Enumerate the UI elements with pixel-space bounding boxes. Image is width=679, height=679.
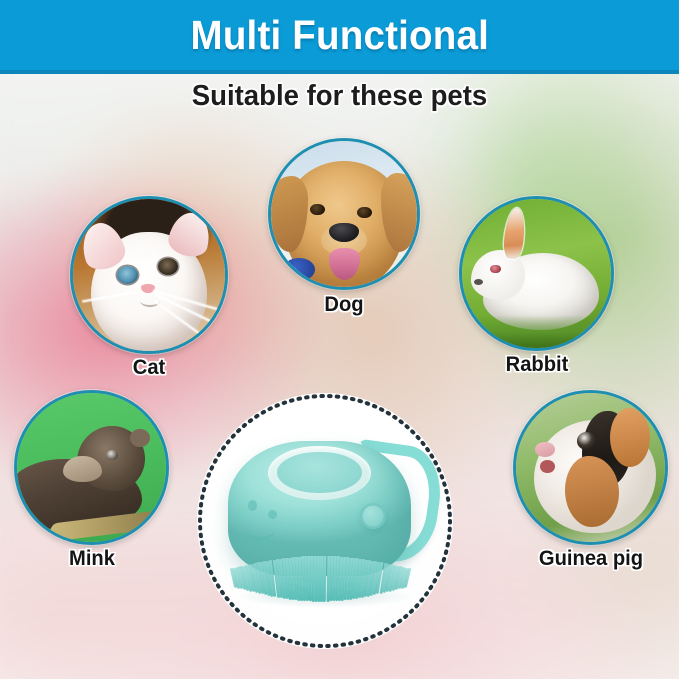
guinea-pig-orange-patch (610, 408, 650, 468)
brush-face-eye (268, 510, 277, 519)
pet-item-guinea-pig[interactable]: Guinea pig (513, 390, 668, 585)
mink-ear (130, 429, 149, 447)
brush-face-smile (244, 519, 275, 540)
cat-photo-scene (73, 199, 225, 351)
infographic-canvas: Multi Functional Suitable for these pets… (0, 0, 679, 679)
pet-photo-rabbit (459, 196, 614, 351)
subtitle: Suitable for these pets (17, 80, 662, 113)
header-banner: Multi Functional (0, 0, 679, 74)
rabbit-photo-scene (462, 199, 611, 348)
rabbit-ear (503, 207, 528, 259)
guinea-pig-nose (535, 442, 554, 457)
pet-item-rabbit[interactable]: Rabbit (459, 196, 614, 391)
pet-photo-guinea-pig (513, 390, 668, 545)
pet-photo-mink (14, 390, 169, 545)
cat-eye-right (158, 258, 178, 275)
pet-item-dog[interactable]: Dog (268, 138, 420, 328)
pet-photo-dog (268, 138, 420, 290)
pet-label-guinea-pig: Guinea pig (538, 547, 642, 571)
mink-photo-scene (17, 393, 166, 542)
brush-bristles (232, 545, 412, 602)
guinea-pig-eye (577, 432, 596, 450)
dog-eye-right (357, 207, 372, 219)
pet-photo-cat (70, 196, 228, 354)
mink-snout (63, 456, 102, 483)
brush-dispenser-button (360, 503, 386, 529)
pet-label-dog: Dog (324, 293, 363, 317)
pet-item-mink[interactable]: Mink (14, 390, 169, 585)
dog-collar-tag (283, 258, 315, 281)
pet-label-mink: Mink (69, 547, 115, 571)
brush-soap-cap (277, 452, 361, 494)
dog-photo-scene (271, 141, 417, 287)
pet-label-rabbit: Rabbit (505, 353, 568, 377)
pet-item-cat[interactable]: Cat (70, 196, 228, 391)
guinea-pig-photo-scene (516, 393, 665, 542)
product-brush (228, 434, 428, 603)
rabbit-eye (490, 265, 500, 274)
pet-label-cat: Cat (133, 356, 165, 380)
rabbit-grass (462, 315, 611, 348)
dog-nose (329, 223, 358, 242)
brush-face-eye (248, 500, 257, 511)
page-title: Multi Functional (190, 15, 488, 56)
product-showcase-circle[interactable] (197, 393, 453, 649)
